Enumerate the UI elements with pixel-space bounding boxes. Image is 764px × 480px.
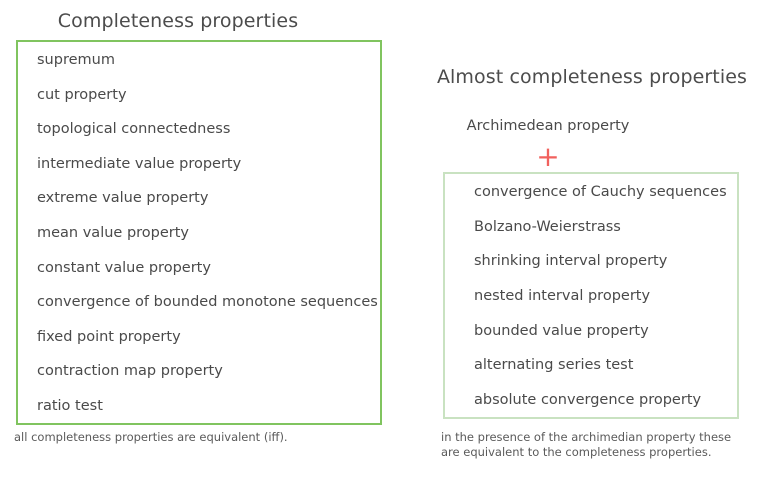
list-item: shrinking interval property bbox=[474, 254, 737, 269]
list-item: constant value property bbox=[37, 261, 380, 276]
list-item: intermediate value property bbox=[37, 157, 380, 172]
almost-completeness-properties-box: convergence of Cauchy sequences Bolzano-… bbox=[443, 172, 739, 419]
list-item: convergence of Cauchy sequences bbox=[474, 185, 737, 200]
list-item: fixed point property bbox=[37, 330, 380, 345]
list-item: Bolzano-Weierstrass bbox=[474, 220, 737, 235]
caption-line-2: are equivalent to the completeness prope… bbox=[441, 445, 757, 460]
list-item: supremum bbox=[37, 53, 380, 68]
list-item: ratio test bbox=[37, 399, 380, 414]
completeness-properties-panel: Completeness properties supremum cut pro… bbox=[0, 0, 400, 480]
list-item: cut property bbox=[37, 88, 380, 103]
archimedean-property-label: Archimedean property bbox=[420, 118, 676, 134]
caption-line-1: in the presence of the archimedian prope… bbox=[441, 430, 757, 445]
almost-completeness-panel-title: Almost completeness properties bbox=[420, 66, 764, 88]
list-item: absolute convergence property bbox=[474, 393, 737, 408]
list-item: topological connectedness bbox=[37, 122, 380, 137]
almost-completeness-properties-panel: Almost completeness properties Archimede… bbox=[420, 0, 764, 480]
list-item: alternating series test bbox=[474, 358, 737, 373]
list-item: mean value property bbox=[37, 226, 380, 241]
diagram-canvas: Completeness properties supremum cut pro… bbox=[0, 0, 764, 480]
almost-completeness-caption: in the presence of the archimedian prope… bbox=[441, 430, 757, 459]
list-item: convergence of bounded monotone sequence… bbox=[37, 295, 380, 310]
completeness-properties-box: supremum cut property topological connec… bbox=[16, 40, 382, 425]
list-item: extreme value property bbox=[37, 191, 380, 206]
list-item: contraction map property bbox=[37, 364, 380, 379]
completeness-caption: all completeness properties are equivale… bbox=[14, 430, 394, 445]
plus-icon: + bbox=[420, 143, 676, 171]
list-item: nested interval property bbox=[474, 289, 737, 304]
list-item: bounded value property bbox=[474, 324, 737, 339]
completeness-panel-title: Completeness properties bbox=[0, 10, 356, 32]
